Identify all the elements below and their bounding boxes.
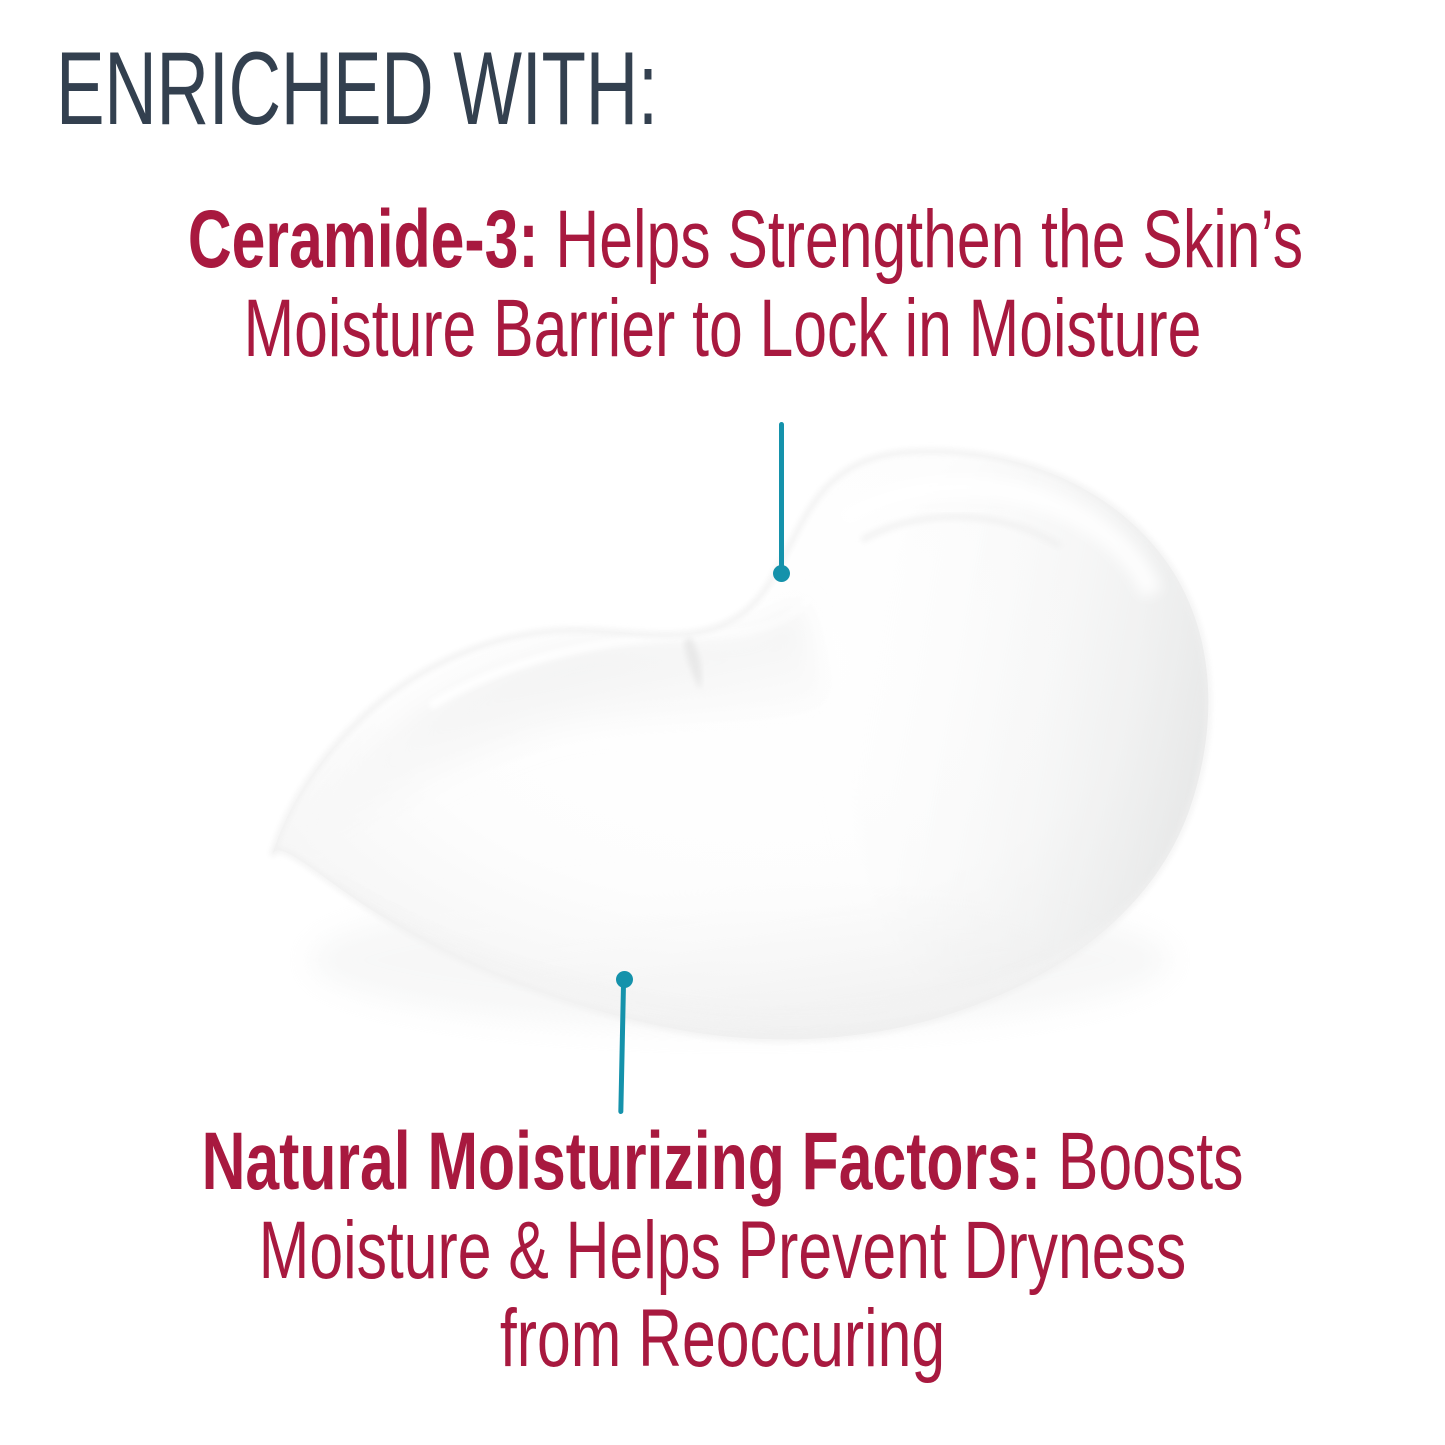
pointer-dot <box>616 971 633 988</box>
swatch-bottom-rim <box>330 880 1168 1018</box>
callout-text: Moisture Barrier to Lock in Moisture <box>244 283 1202 374</box>
callout-text: Boosts <box>1041 1116 1243 1207</box>
callout-line: Natural Moisturizing Factors: Boosts <box>188 1118 1257 1207</box>
swatch-tail-shading <box>270 856 430 990</box>
swatch-top-highlight <box>840 487 1152 594</box>
swatch-crease <box>862 517 1060 546</box>
infographic-page: ENRICHED WITH: <box>0 0 1445 1445</box>
callout-natural-moisturizing-factors: Natural Moisturizing Factors: Boosts Moi… <box>0 1118 1445 1384</box>
swatch-gloss-ridge <box>430 596 812 706</box>
swatch-body <box>272 451 1208 1039</box>
callout-text: from Reoccuring <box>500 1293 945 1384</box>
pointer-line <box>779 422 784 574</box>
swatch-gloss-blob <box>684 636 702 690</box>
callout-line: Moisture Barrier to Lock in Moisture <box>188 285 1257 374</box>
swatch-bottom-shading <box>260 880 1140 1140</box>
callout-line: from Reoccuring <box>188 1295 1257 1384</box>
swatch-right-shading <box>840 430 1280 1030</box>
callout-line: Moisture & Helps Prevent Dryness <box>188 1207 1257 1296</box>
swatch-shadow <box>310 890 1170 1030</box>
ingredient-name: Natural Moisturizing Factors: <box>202 1116 1041 1207</box>
callout-text: Moisture & Helps Prevent Dryness <box>259 1205 1186 1296</box>
page-title: ENRICHED WITH: <box>56 36 987 142</box>
swatch-notch-shading <box>300 600 830 880</box>
callout-text: Helps Strengthen the Skin’s <box>539 194 1304 285</box>
ingredient-name: Ceramide-3: <box>188 194 539 285</box>
swatch-outline <box>272 451 1208 1039</box>
callout-line: Ceramide-3: Helps Strengthen the Skin’s <box>188 196 1257 285</box>
callout-ceramide-3: Ceramide-3: Helps Strengthen the Skin’s … <box>0 196 1445 373</box>
pointer-dot <box>773 565 790 582</box>
pointer-line <box>618 984 626 1114</box>
